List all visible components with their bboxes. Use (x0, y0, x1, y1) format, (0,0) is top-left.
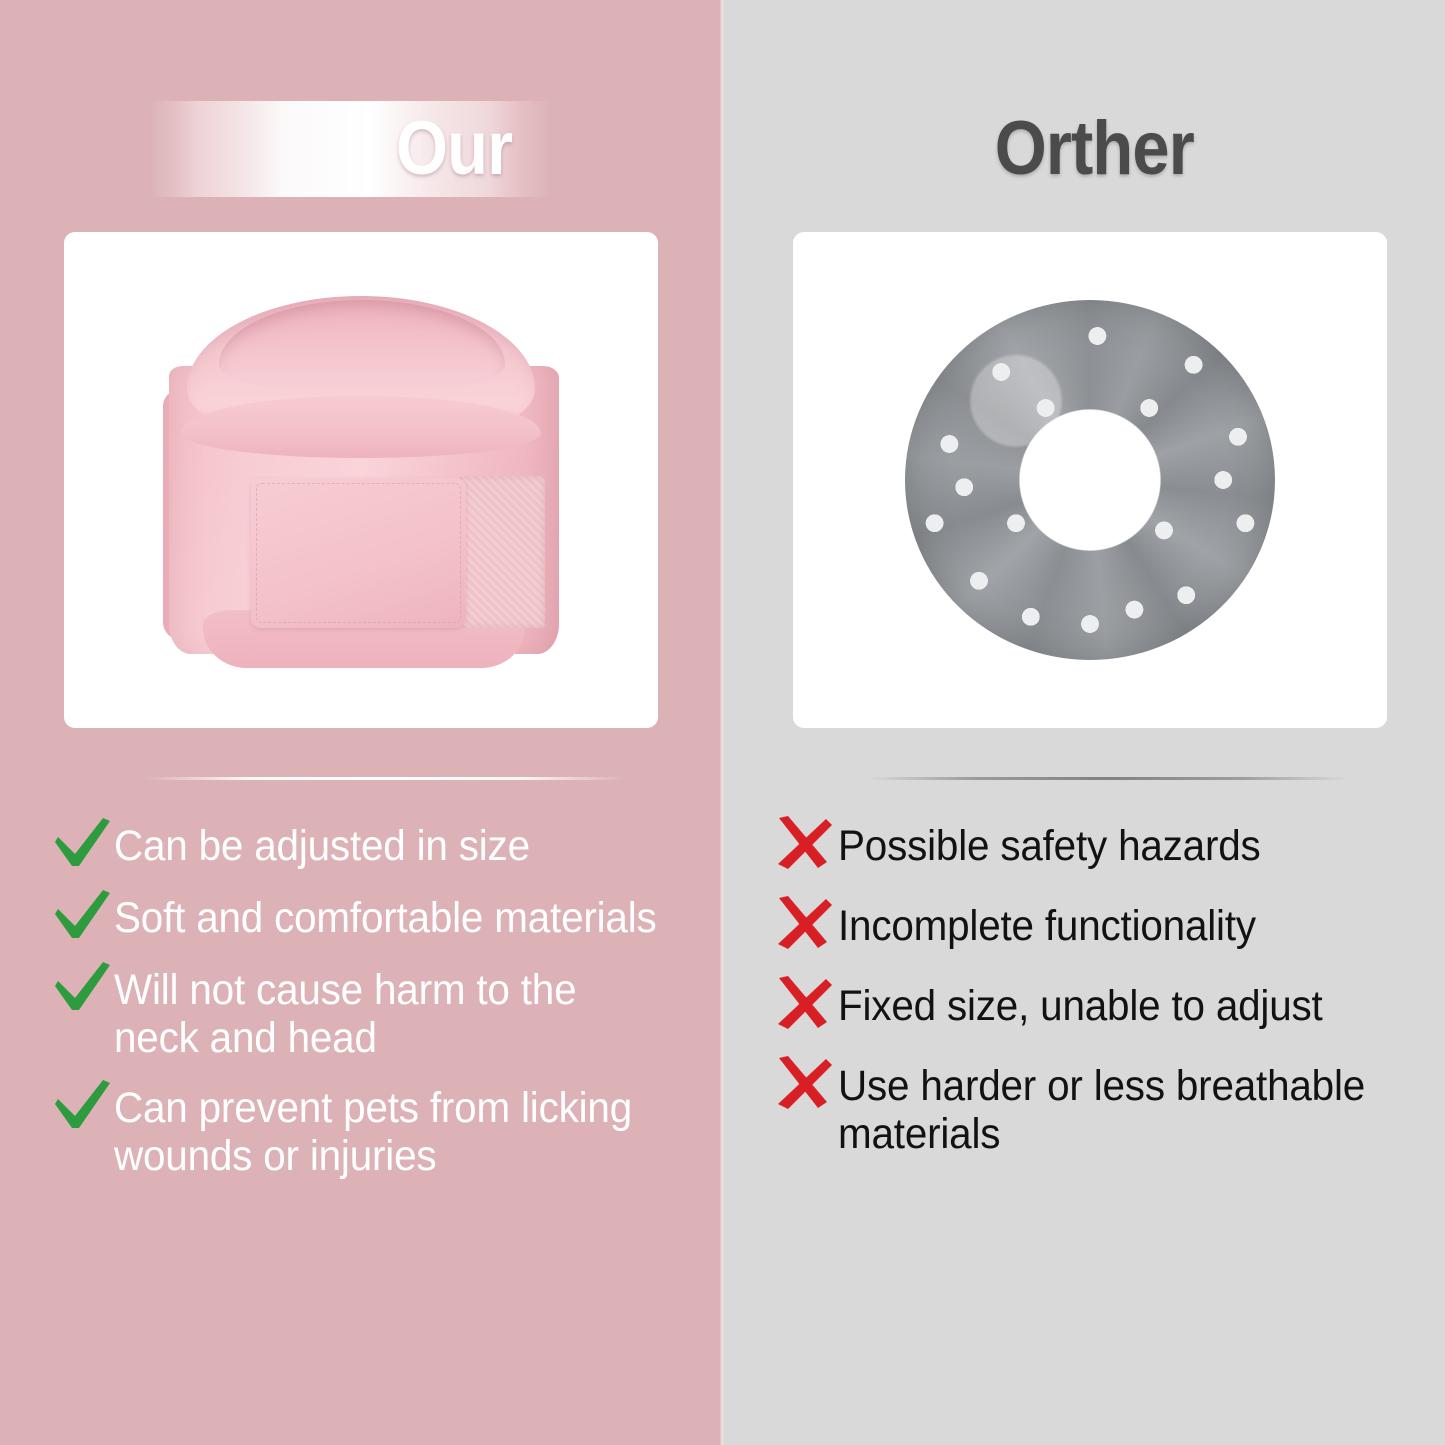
left-benefits-list: Can be adjusted in size Soft and comfort… (52, 822, 702, 1203)
list-item: Will not cause harm to the neck and head (52, 966, 702, 1062)
list-item-label: Can be adjusted in size (114, 822, 667, 870)
collar-velcro-flap (251, 478, 466, 628)
right-drawbacks-list: Possible safety hazards Incomplete funct… (772, 822, 1432, 1188)
cross-icon (772, 816, 838, 872)
cross-icon (772, 1056, 838, 1112)
cross-icon (772, 976, 838, 1032)
list-item-label: Use harder or less breathable materials (838, 1062, 1396, 1158)
right-product-image (793, 232, 1387, 728)
right-product-card (793, 232, 1387, 728)
list-item-label: Soft and comfortable materials (114, 894, 667, 942)
scrunchie-polka-dots (905, 300, 1275, 660)
collar-velcro-strip (459, 476, 545, 628)
list-item: Can be adjusted in size (52, 822, 702, 872)
list-item-label: Fixed size, unable to adjust (838, 982, 1396, 1030)
list-item-label: Can prevent pets from licking wounds or … (114, 1084, 667, 1180)
list-item-label: Incomplete functionality (838, 902, 1396, 950)
list-item: Incomplete functionality (772, 902, 1432, 952)
list-item-label: Will not cause harm to the neck and head (114, 966, 667, 1062)
list-item-label: Possible safety hazards (838, 822, 1396, 870)
list-item: Soft and comfortable materials (52, 894, 702, 944)
right-title: Orther (752, 101, 1194, 197)
panel-divider (720, 0, 724, 1445)
cross-icon (772, 896, 838, 952)
check-icon (52, 816, 114, 872)
check-icon (52, 1078, 114, 1134)
list-item: Can prevent pets from licking wounds or … (52, 1084, 702, 1180)
list-item: Fixed size, unable to adjust (772, 982, 1432, 1032)
left-product-image (64, 232, 658, 728)
collar-lip (181, 396, 541, 458)
check-icon (52, 960, 114, 1016)
list-item: Possible safety hazards (772, 822, 1432, 872)
left-product-card (64, 232, 658, 728)
gray-scrunchie-illustration (905, 300, 1275, 660)
comparison-infographic: Our Orther (0, 0, 1445, 1445)
left-section-divider (145, 777, 625, 780)
list-item: Use harder or less breathable materials (772, 1062, 1432, 1158)
check-icon (52, 888, 114, 944)
pink-collar-illustration (141, 280, 581, 680)
left-title: Our (33, 101, 513, 197)
right-section-divider (868, 777, 1348, 780)
